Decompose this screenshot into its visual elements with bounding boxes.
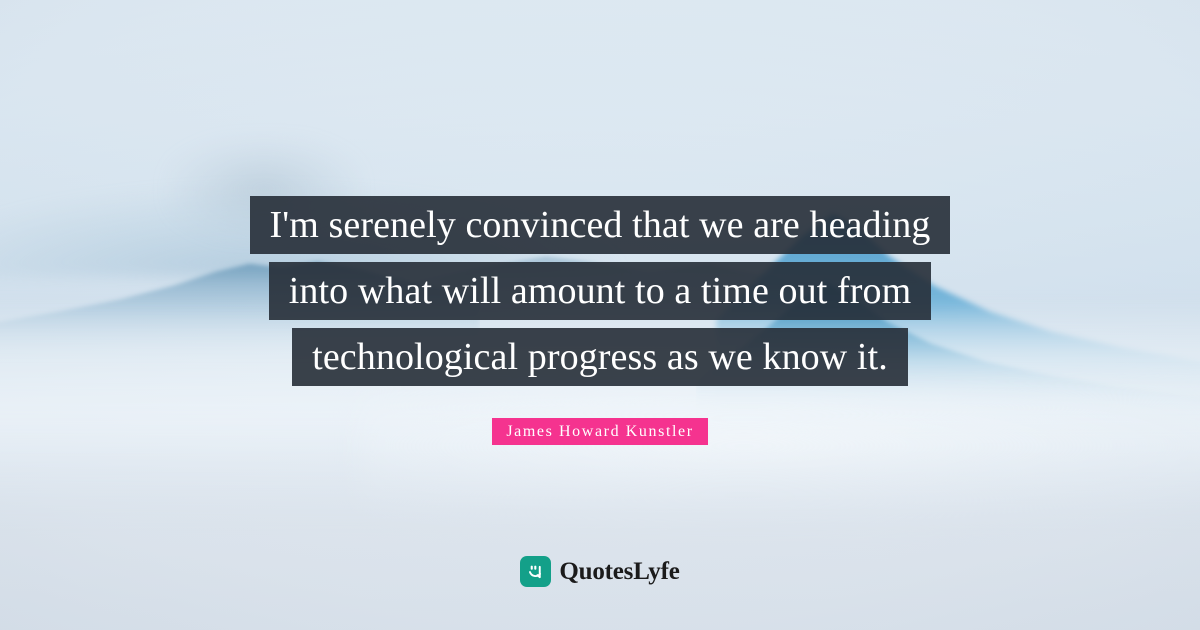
quote-line-1: I'm serenely convinced that we are headi… xyxy=(250,196,951,254)
brand-footer[interactable]: QuotesLyfe xyxy=(0,556,1200,587)
author-name: James Howard Kunstler xyxy=(492,418,707,445)
quote-card: I'm serenely convinced that we are headi… xyxy=(0,0,1200,630)
quote-line-3: technological progress as we know it. xyxy=(292,328,908,386)
quote-text-block: I'm serenely convinced that we are headi… xyxy=(0,196,1200,386)
author-attribution: James Howard Kunstler xyxy=(0,418,1200,445)
quoteslyfe-logo-icon xyxy=(520,556,551,587)
quote-line-2: into what will amount to a time out from xyxy=(269,262,931,320)
brand-name: QuotesLyfe xyxy=(559,559,679,584)
